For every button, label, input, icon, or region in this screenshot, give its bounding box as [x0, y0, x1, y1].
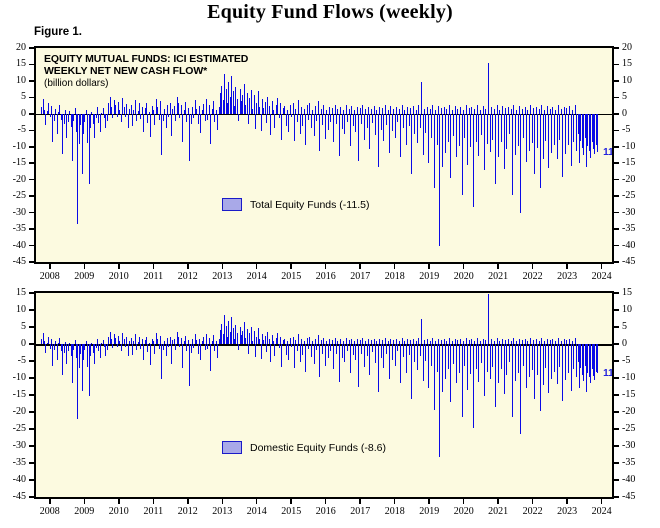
y-axis-tick: [29, 360, 34, 362]
bar: [498, 344, 499, 383]
bar: [453, 114, 454, 136]
y-axis-tick: [29, 326, 34, 328]
y-axis-label: -35: [622, 458, 648, 468]
bar: [379, 107, 380, 114]
bar: [171, 114, 172, 136]
bar: [286, 344, 287, 355]
bar: [456, 344, 457, 383]
bar: [340, 107, 341, 114]
bar: [288, 114, 289, 132]
bar: [425, 344, 426, 361]
x-axis-label: 2016: [310, 507, 342, 517]
bar: [417, 114, 418, 143]
bar: [342, 114, 343, 129]
bar: [336, 344, 337, 354]
bar: [314, 114, 315, 136]
bar: [84, 114, 85, 122]
bar: [350, 114, 351, 146]
bar: [568, 114, 569, 146]
bar: [168, 344, 169, 347]
bar: [266, 344, 267, 352]
bar: [305, 344, 306, 372]
bar: [470, 344, 471, 374]
bar: [460, 107, 461, 114]
bar: [554, 114, 555, 145]
bar: [357, 107, 358, 114]
bar: [428, 344, 429, 388]
bar: [548, 114, 549, 168]
bar: [568, 344, 569, 373]
bar: [462, 344, 463, 417]
bar: [400, 114, 401, 157]
bar: [490, 344, 491, 379]
bar: [323, 105, 324, 114]
x-axis-tick: [222, 499, 224, 504]
bar: [417, 344, 418, 370]
bar: [353, 344, 354, 355]
x-axis-tick: [222, 264, 224, 269]
bar: [529, 344, 530, 377]
bar: [274, 114, 275, 128]
y-axis-label: -10: [622, 142, 648, 152]
bar: [143, 344, 144, 360]
y-axis-label: -10: [0, 373, 26, 383]
bar: [476, 344, 477, 369]
bar: [383, 344, 384, 368]
y-axis-tick: [614, 326, 619, 328]
chart-panel-bottom: Domestic Equity Funds (-8.6) 11/15 15151…: [34, 291, 614, 499]
y-axis-tick: [614, 179, 619, 181]
bar: [509, 114, 510, 134]
bar: [121, 344, 122, 351]
y-axis-label: -5: [622, 356, 648, 366]
y-axis-label: 20: [0, 43, 26, 53]
bar: [259, 107, 260, 114]
bar: [473, 344, 474, 428]
bar: [385, 105, 386, 114]
y-axis-tick: [614, 292, 619, 294]
x-axis-tick: [428, 499, 430, 504]
x-axis-label: 2008: [34, 272, 66, 282]
bar: [333, 344, 334, 369]
bar: [266, 114, 267, 123]
x-axis-label: 2014: [241, 507, 273, 517]
bar: [470, 114, 471, 148]
bar: [501, 344, 502, 369]
bar: [311, 344, 312, 357]
x-axis-label: 2024: [586, 272, 618, 282]
bar: [139, 337, 140, 344]
x-axis-label: 2023: [551, 507, 583, 517]
x-axis-label: 2018: [379, 272, 411, 282]
bar: [368, 107, 369, 114]
bar: [450, 344, 451, 402]
bar: [523, 344, 524, 366]
y-axis-label: -10: [622, 373, 648, 383]
x-axis-tick: [153, 264, 155, 269]
bar: [210, 344, 211, 371]
bar: [255, 344, 256, 357]
bar: [140, 344, 141, 349]
bar: [540, 114, 541, 188]
y-axis-tick: [614, 261, 619, 263]
bar: [495, 344, 496, 407]
x-axis-label: 2012: [172, 272, 204, 282]
bar: [395, 114, 396, 138]
x-axis-label: 2023: [551, 272, 583, 282]
bar: [513, 105, 514, 114]
bar: [132, 344, 133, 355]
bar: [571, 114, 572, 166]
x-axis-tick: [394, 264, 396, 269]
bar: [431, 344, 432, 366]
bar: [575, 105, 576, 114]
y-axis-tick: [614, 130, 619, 132]
bar: [413, 106, 414, 114]
x-axis-label: 2014: [241, 272, 273, 282]
bar: [372, 114, 373, 123]
bar: [403, 344, 404, 357]
legend-swatch-domestic-equity: [222, 441, 242, 454]
bar: [147, 344, 148, 352]
bar: [346, 105, 347, 114]
bar: [50, 114, 51, 118]
bar: [274, 344, 275, 356]
bar: [455, 106, 456, 114]
bar: [502, 106, 503, 114]
bar: [558, 105, 559, 114]
y-axis-tick: [614, 462, 619, 464]
bar: [364, 114, 365, 140]
y-axis-label: 10: [622, 305, 648, 315]
bar: [238, 344, 239, 350]
bar: [207, 344, 208, 349]
bar: [450, 114, 451, 179]
bar: [181, 105, 182, 114]
bar: [551, 114, 552, 153]
y-axis-tick: [29, 97, 34, 99]
bar: [126, 104, 127, 114]
bar: [284, 106, 285, 114]
bar: [434, 114, 435, 188]
x-axis-tick: [532, 264, 534, 269]
bar: [171, 344, 172, 364]
bar: [537, 114, 538, 148]
bar: [186, 344, 187, 351]
bar: [322, 114, 323, 125]
x-axis-label: 2020: [448, 507, 480, 517]
bar: [453, 344, 454, 364]
bar: [476, 114, 477, 142]
bar: [112, 114, 113, 119]
y-axis-tick: [29, 212, 34, 214]
bar: [515, 114, 516, 155]
bar: [355, 344, 356, 360]
bar: [57, 114, 58, 134]
bar: [302, 344, 303, 355]
x-axis-tick: [601, 264, 603, 269]
bar: [504, 114, 505, 169]
bar: [559, 114, 560, 140]
x-axis-tick: [256, 499, 258, 504]
bar: [386, 344, 387, 354]
bar: [132, 114, 133, 127]
bar: [277, 333, 278, 344]
bar: [495, 114, 496, 184]
bar: [300, 114, 301, 134]
bar: [45, 344, 46, 353]
y-axis-tick: [614, 377, 619, 379]
bar: [248, 114, 249, 125]
bar: [519, 106, 520, 114]
bar: [247, 329, 248, 344]
bar: [551, 344, 552, 379]
bar: [182, 344, 183, 368]
bar: [154, 344, 155, 354]
y-axis-label: -20: [0, 407, 26, 417]
bar: [237, 333, 238, 344]
bar: [361, 114, 362, 125]
bar: [97, 107, 98, 114]
bar: [543, 344, 544, 385]
bar: [397, 344, 398, 351]
bar: [481, 114, 482, 135]
x-axis-label: 2013: [206, 507, 238, 517]
bar: [174, 106, 175, 114]
bar: [269, 106, 270, 114]
x-axis-tick: [497, 264, 499, 269]
bar: [374, 106, 375, 114]
bar: [125, 344, 126, 347]
bar: [286, 114, 287, 126]
bar: [112, 344, 113, 348]
bar: [488, 63, 489, 114]
y-axis-label: -5: [622, 125, 648, 135]
bar: [135, 100, 136, 114]
x-axis-tick: [601, 499, 603, 504]
bar: [214, 344, 215, 351]
bar: [437, 344, 438, 372]
bar: [389, 114, 390, 153]
x-axis-label: 2015: [275, 507, 307, 517]
bar: [520, 114, 521, 213]
bar: [298, 100, 299, 114]
bar: [115, 105, 116, 114]
bar: [124, 107, 125, 114]
y-axis-label: 0: [622, 109, 648, 119]
bar: [534, 114, 535, 175]
bar: [484, 344, 485, 396]
bar: [139, 103, 140, 114]
bar: [355, 114, 356, 132]
bar: [483, 106, 484, 114]
x-axis-tick: [118, 499, 120, 504]
bar: [557, 114, 558, 159]
legend-bottom: Domestic Equity Funds (-8.6): [222, 441, 386, 454]
y-axis-label: -25: [622, 191, 648, 201]
y-axis-tick: [29, 130, 34, 132]
x-axis-label: 2019: [413, 272, 445, 282]
bar: [406, 344, 407, 373]
y-axis-label: -10: [0, 142, 26, 152]
y-axis-label: -35: [622, 224, 648, 234]
bar: [529, 114, 530, 151]
bar: [492, 344, 493, 367]
bar: [193, 344, 194, 348]
bar: [547, 106, 548, 114]
x-axis-label: 2009: [68, 507, 100, 517]
y-axis-label: -20: [622, 407, 648, 417]
bar: [351, 106, 352, 114]
bar: [445, 344, 446, 379]
bar: [238, 114, 239, 121]
y-axis-tick: [29, 428, 34, 430]
bar: [381, 344, 382, 358]
x-axis-tick: [187, 499, 189, 504]
bar: [339, 344, 340, 382]
x-axis-tick: [187, 264, 189, 269]
bar: [541, 105, 542, 114]
bar: [330, 344, 331, 351]
bar: [185, 336, 186, 344]
x-axis-label: 2016: [310, 272, 342, 282]
y-axis-tick: [29, 343, 34, 345]
y-axis-tick: [29, 146, 34, 148]
bar: [68, 114, 69, 123]
x-axis-tick: [566, 264, 568, 269]
bar: [364, 344, 365, 367]
bar: [372, 344, 373, 352]
bar: [255, 114, 256, 129]
x-axis-label: 2018: [379, 507, 411, 517]
y-axis-tick: [614, 212, 619, 214]
bar: [200, 114, 201, 133]
bar: [336, 114, 337, 125]
bar: [311, 114, 312, 128]
x-axis-label: 2010: [103, 507, 135, 517]
bar: [254, 95, 255, 114]
bar: [459, 344, 460, 373]
bar: [213, 101, 214, 114]
y-axis-label: 15: [0, 59, 26, 69]
bar: [270, 344, 271, 362]
bar: [534, 344, 535, 399]
bar: [168, 114, 169, 118]
bar: [159, 114, 160, 120]
bar: [396, 107, 397, 114]
bar: [163, 344, 164, 350]
y-axis-tick: [29, 377, 34, 379]
bar: [90, 344, 91, 356]
y-axis-label: -35: [0, 458, 26, 468]
y-axis-label: -45: [0, 257, 26, 267]
y-axis-label: -30: [0, 441, 26, 451]
bar: [308, 114, 309, 120]
bar: [167, 105, 168, 114]
bar: [442, 114, 443, 167]
bar: [135, 334, 136, 344]
bar: [504, 344, 505, 394]
bar: [100, 344, 101, 358]
bar: [409, 344, 410, 355]
x-axis-tick: [84, 264, 86, 269]
bar: [506, 114, 507, 149]
x-axis-tick: [463, 264, 465, 269]
bar: [397, 114, 398, 123]
bar: [421, 82, 422, 114]
bar: [64, 344, 65, 353]
bar: [210, 114, 211, 144]
y-axis-tick: [29, 496, 34, 498]
bar: [467, 114, 468, 165]
bar: [543, 114, 544, 159]
bar: [206, 99, 207, 113]
bar: [386, 114, 387, 125]
y-axis-tick: [29, 179, 34, 181]
bar: [390, 106, 391, 114]
bar: [297, 114, 298, 122]
bar: [186, 114, 187, 122]
bar: [428, 114, 429, 163]
bar: [308, 344, 309, 349]
bar: [166, 344, 167, 356]
bar: [562, 344, 563, 401]
bar: [84, 344, 85, 350]
x-axis-tick: [84, 499, 86, 504]
bar: [420, 344, 421, 356]
y-axis-label: 10: [622, 76, 648, 86]
y-axis-label: -15: [622, 158, 648, 168]
y-axis-label: 5: [0, 322, 26, 332]
bar: [506, 344, 507, 375]
plot-area-bottom: Domestic Equity Funds (-8.6) 11/15: [34, 291, 614, 499]
bar: [307, 105, 308, 114]
bar: [294, 114, 295, 141]
bar: [318, 101, 319, 114]
bar: [464, 114, 465, 138]
bar: [185, 102, 186, 114]
y-axis-tick: [29, 411, 34, 413]
bar: [509, 344, 510, 362]
bar: [444, 107, 445, 114]
y-axis-tick: [614, 113, 619, 115]
x-axis-label: 2017: [344, 272, 376, 282]
chart-page: Equity Fund Flows (weekly) Figure 1. EQU…: [0, 0, 660, 528]
bar: [347, 114, 348, 122]
bar: [175, 344, 176, 350]
bar: [325, 344, 326, 366]
bar: [403, 114, 404, 128]
y-axis-tick: [29, 309, 34, 311]
bar: [322, 344, 323, 354]
y-axis-label: -30: [622, 441, 648, 451]
bar: [532, 114, 533, 143]
bar: [545, 114, 546, 141]
bar: [361, 344, 362, 354]
bar: [552, 107, 553, 114]
bar: [330, 114, 331, 123]
bar: [205, 114, 206, 121]
bar: [288, 344, 289, 360]
bar: [477, 105, 478, 114]
bar: [381, 114, 382, 130]
bar: [200, 344, 201, 360]
y-axis-tick: [614, 479, 619, 481]
bar: [358, 114, 359, 161]
bar: [564, 107, 565, 114]
bar: [159, 344, 160, 349]
bar: [498, 114, 499, 157]
